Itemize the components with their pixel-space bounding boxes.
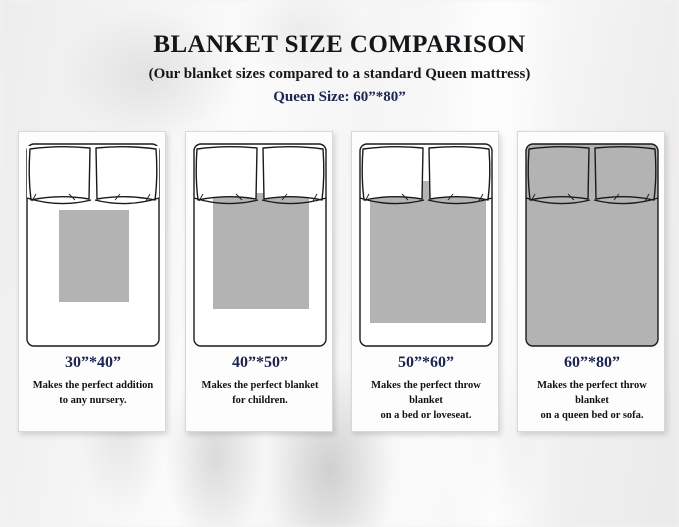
description-line-1: Makes the perfect throw blanket xyxy=(371,380,481,406)
bed-illustration-30x40 xyxy=(19,136,167,352)
description-30x40: Makes the perfect addition to any nurser… xyxy=(21,378,165,408)
bed-top-view-icon xyxy=(518,136,666,352)
description-line-2: on a queen bed or sofa. xyxy=(520,408,664,423)
bed-top-view-icon xyxy=(19,136,167,352)
description-40x50: Makes the perfect blanket for children. xyxy=(188,378,332,408)
comparison-card-60x80: 60”*80” Makes the perfect throw blanket … xyxy=(517,131,665,432)
bed-top-view-icon xyxy=(186,136,334,352)
bed-illustration-60x80 xyxy=(518,136,666,352)
page-title: BLANKET SIZE COMPARISON xyxy=(0,31,679,59)
description-line-2: to any nursery. xyxy=(21,393,165,408)
size-label-40x50: 40”*50” xyxy=(186,354,334,372)
description-line-2: for children. xyxy=(188,393,332,408)
size-label-30x40: 30”*40” xyxy=(19,354,167,372)
comparison-card-30x40: 30”*40” Makes the perfect addition to an… xyxy=(18,131,166,432)
size-label-60x80: 60”*80” xyxy=(518,354,666,372)
description-line-1: Makes the perfect blanket xyxy=(202,380,319,391)
comparison-card-50x60: 50”*60” Makes the perfect throw blanket … xyxy=(351,131,499,432)
comparison-graphic: BLANKET SIZE COMPARISON (Our blanket siz… xyxy=(0,0,679,527)
description-line-1: Makes the perfect addition xyxy=(33,380,153,391)
comparison-card-40x50: 40”*50” Makes the perfect blanket for ch… xyxy=(185,131,333,432)
description-line-2: on a bed or loveseat. xyxy=(354,408,498,423)
description-line-1: Makes the perfect throw blanket xyxy=(537,380,647,406)
bed-illustration-50x60 xyxy=(352,136,500,352)
description-60x80: Makes the perfect throw blanket on a que… xyxy=(520,378,664,423)
page-subtitle: (Our blanket sizes compared to a standar… xyxy=(0,66,679,83)
bed-illustration-40x50 xyxy=(186,136,334,352)
queen-size-note: Queen Size: 60”*80” xyxy=(0,89,679,106)
bed-top-view-icon xyxy=(352,136,500,352)
description-50x60: Makes the perfect throw blanket on a bed… xyxy=(354,378,498,423)
size-label-50x60: 50”*60” xyxy=(352,354,500,372)
